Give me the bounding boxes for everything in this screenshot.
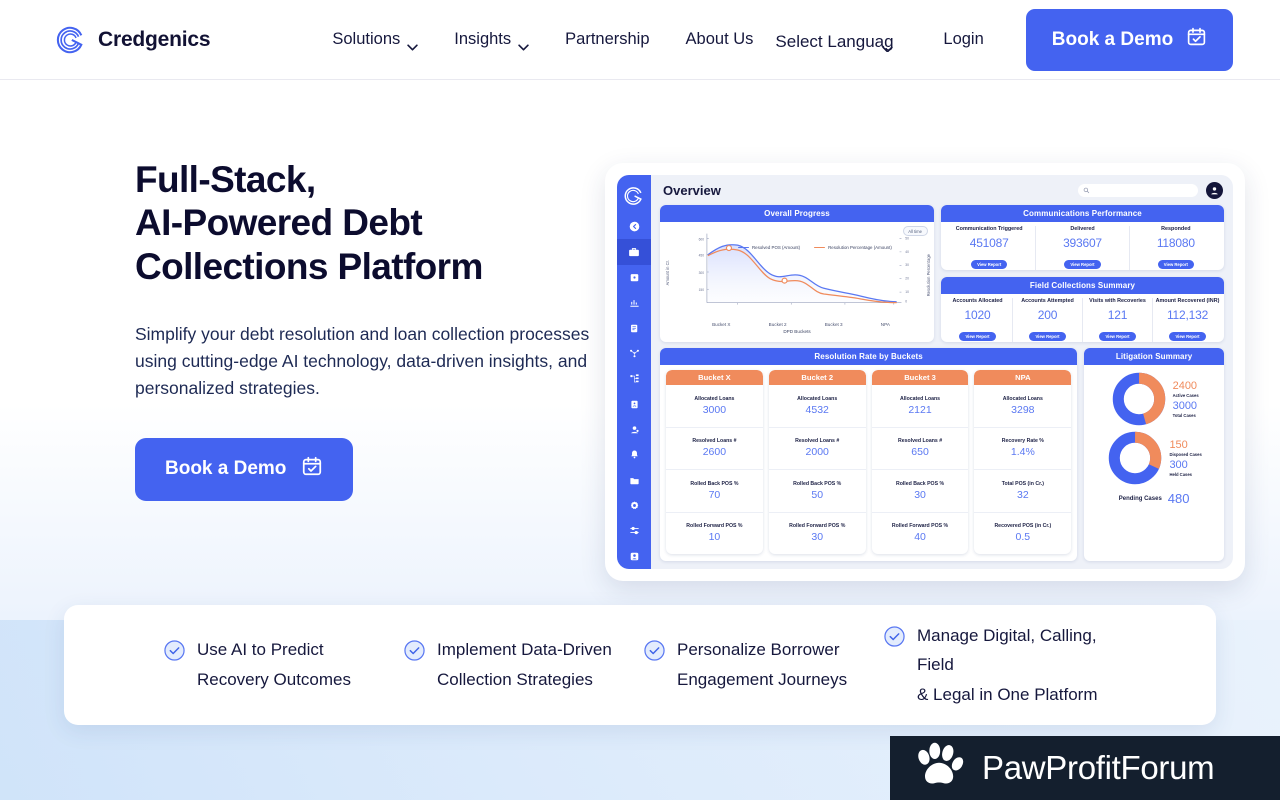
nav-item-solutions[interactable]: Solutions xyxy=(332,30,436,49)
chart-y-axis-label: Amount in Cr. xyxy=(665,260,670,285)
stat-cell: Amount Recovered (INR) 112,132 View Repo… xyxy=(1153,298,1222,342)
feature-item: Manage Digital, Calling, Field & Legal i… xyxy=(884,621,1124,710)
svg-text:0: 0 xyxy=(905,300,907,304)
feature-item: Implement Data-Driven Collection Strateg… xyxy=(404,635,644,694)
litigation-summary-card: Litigation Summary 2400 Active Cases xyxy=(1084,348,1224,561)
chart-x-tick: NPA xyxy=(881,322,890,327)
dashboard-search-input[interactable] xyxy=(1078,184,1198,197)
donut-secondary-value: 300 xyxy=(1169,460,1201,471)
communications-performance-card: Communications Performance Communication… xyxy=(941,205,1224,270)
chevron-down-icon xyxy=(407,37,418,44)
bucket-cell: Rolled Back POS % 70 xyxy=(666,470,763,512)
hero-subtitle: Simplify your debt resolution and loan c… xyxy=(135,321,595,403)
svg-text:300: 300 xyxy=(699,271,705,275)
bucket-row-label: Total POS (in Cr.) xyxy=(976,481,1069,487)
sidebar-agent-icon[interactable] xyxy=(617,417,651,442)
bucket-cell: Total POS (in Cr.) 32 xyxy=(974,470,1071,512)
resolution-rate-title: Resolution Rate by Buckets xyxy=(660,348,1077,365)
svg-text:40: 40 xyxy=(905,250,909,254)
bucket-row-value: 3000 xyxy=(668,404,761,416)
bucket-row-value: 1.4% xyxy=(976,446,1069,458)
sidebar-gear-icon[interactable] xyxy=(617,493,651,518)
hero-copy: Full-Stack, AI-Powered Debt Collections … xyxy=(135,158,605,501)
calendar-check-icon xyxy=(301,455,323,483)
pending-cases: Pending Cases 480 xyxy=(1119,491,1190,506)
litigation-donut-2: 150 Disposed Cases 300 Held Cases xyxy=(1106,429,1201,487)
overall-progress-title: Overall Progress xyxy=(660,205,934,222)
stat-cell: Accounts Attempted 200 View Report xyxy=(1013,298,1083,342)
bucket-row-label: Resolved Loans # xyxy=(771,438,864,444)
bucket-row-value: 0.5 xyxy=(976,531,1069,543)
language-selector-label: Select Language xyxy=(775,32,893,51)
nav-item-label: Partnership xyxy=(565,30,649,49)
bucket-row-value: 3298 xyxy=(976,404,1069,416)
litigation-donut-1: 2400 Active Cases 3000 Total Cases xyxy=(1110,370,1199,428)
stat-cell: Accounts Allocated 1020 View Report xyxy=(943,298,1013,342)
donut-secondary-value: 3000 xyxy=(1173,401,1199,412)
bucket-row-label: Allocated Loans xyxy=(976,396,1069,402)
stat-value: 393607 xyxy=(1038,236,1126,250)
main-nav: Solutions Insights Partnership About Us … xyxy=(332,9,1233,71)
bucket-cell: Resolved Loans # 2000 xyxy=(769,428,866,470)
field-collections-title: Field Collections Summary xyxy=(941,277,1224,294)
view-report-button[interactable]: View Report xyxy=(1064,260,1100,269)
donut-primary-label: Active Cases xyxy=(1173,393,1199,398)
bucket-row-label: Allocated Loans xyxy=(771,396,864,402)
feature-label: Implement Data-Driven Collection Strateg… xyxy=(437,635,612,694)
dashboard-sidebar xyxy=(617,175,651,569)
bucket-cell: Resolved Loans # 650 xyxy=(872,428,969,470)
chevron-down-icon xyxy=(518,37,529,44)
donut-primary-value: 2400 xyxy=(1173,381,1199,392)
feature-item: Use AI to Predict Recovery Outcomes xyxy=(164,635,404,694)
sidebar-lock-icon[interactable] xyxy=(617,265,651,290)
watermark: PawProfitForum xyxy=(890,736,1280,800)
svg-text:450: 450 xyxy=(699,254,705,258)
bucket-row-label: Allocated Loans xyxy=(668,396,761,402)
stat-label: Accounts Attempted xyxy=(1015,298,1080,305)
bucket-cell: Recovery Rate % 1.4% xyxy=(974,428,1071,470)
hero-title-line-1: Full-Stack, xyxy=(135,158,605,201)
brand[interactable]: Credgenics xyxy=(56,25,210,55)
chart-y2-axis-label: Resolution Percentage xyxy=(926,254,931,296)
bucket-row-label: Rolled Forward POS % xyxy=(874,523,967,529)
view-report-button[interactable]: View Report xyxy=(1029,332,1065,341)
stat-label: Visits with Recoveries xyxy=(1085,298,1150,305)
pending-cases-label: Pending Cases xyxy=(1119,496,1162,502)
book-a-demo-label: Book a Demo xyxy=(1052,29,1173,51)
bucket-column: NPA Allocated Loans 3298 Recovery Rate %… xyxy=(974,370,1071,554)
overall-progress-card: Overall Progress All time Resolved POS (… xyxy=(660,205,934,342)
sidebar-briefcase-icon[interactable] xyxy=(617,239,651,264)
stat-value: 200 xyxy=(1015,308,1080,322)
bucket-cell: Rolled Forward POS % 40 xyxy=(872,513,969,554)
view-report-button[interactable]: View Report xyxy=(971,260,1007,269)
bucket-cell: Rolled Forward POS % 10 xyxy=(666,513,763,554)
bucket-row-value: 32 xyxy=(976,489,1069,501)
dashboard-topbar: Overview xyxy=(651,175,1233,205)
page-title: Full-Stack, AI-Powered Debt Collections … xyxy=(135,158,605,288)
feature-line-2: Collection Strategies xyxy=(437,670,593,689)
feature-line-1: Implement Data-Driven xyxy=(437,640,612,659)
pending-cases-value: 480 xyxy=(1168,491,1190,506)
feature-line-1: Manage Digital, Calling, Field xyxy=(917,626,1097,675)
view-report-button[interactable]: View Report xyxy=(1169,332,1205,341)
check-circle-icon xyxy=(404,640,425,661)
resolution-rate-card: Resolution Rate by Buckets Bucket X Allo… xyxy=(660,348,1077,561)
feature-label: Use AI to Predict Recovery Outcomes xyxy=(197,635,351,694)
login-link[interactable]: Login xyxy=(943,30,983,49)
bucket-column: Bucket 3 Allocated Loans 2121 Resolved L… xyxy=(872,370,969,554)
feature-line-2: Recovery Outcomes xyxy=(197,670,351,689)
check-circle-icon xyxy=(164,640,185,661)
stat-cell: Communication Triggered 451087 View Repo… xyxy=(943,226,1036,270)
overall-progress-chart: All time Resolved POS (Amount) Resolutio… xyxy=(660,222,934,342)
bucket-column: Bucket 2 Allocated Loans 4532 Resolved L… xyxy=(769,370,866,554)
view-report-button[interactable]: View Report xyxy=(1099,332,1135,341)
dashboard-preview: Overview Overall Progress All time xyxy=(605,163,1245,581)
stat-cell: Responded 118080 View Report xyxy=(1130,226,1222,270)
donut-primary-value: 150 xyxy=(1169,440,1201,451)
view-report-button[interactable]: View Report xyxy=(959,332,995,341)
stat-cell: Delivered 393607 View Report xyxy=(1036,226,1129,270)
watermark-text: PawProfitForum xyxy=(982,749,1214,787)
legend-item: Resolved POS (Amount) xyxy=(738,245,800,250)
feature-line-1: Personalize Borrower xyxy=(677,640,840,659)
bucket-name: Bucket 2 xyxy=(769,370,866,385)
bucket-cell: Rolled Back POS % 50 xyxy=(769,470,866,512)
calendar-check-icon xyxy=(1186,26,1207,53)
bucket-row-value: 50 xyxy=(771,489,864,501)
bucket-row-value: 2000 xyxy=(771,446,864,458)
chevron-down-icon xyxy=(882,38,893,45)
bucket-row-label: Rolled Forward POS % xyxy=(771,523,864,529)
stat-cell: Visits with Recoveries 121 View Report xyxy=(1083,298,1153,342)
bucket-cell: Allocated Loans 3298 xyxy=(974,385,1071,427)
view-report-button[interactable]: View Report xyxy=(1158,260,1194,269)
feature-item: Personalize Borrower Engagement Journeys xyxy=(644,635,884,694)
bucket-row-label: Recovery Rate % xyxy=(976,438,1069,444)
bucket-row-value: 650 xyxy=(874,446,967,458)
chart-x-tick: Bucket 3 xyxy=(825,322,843,327)
nav-item-insights[interactable]: Insights xyxy=(436,30,547,49)
bucket-row-value: 30 xyxy=(874,489,967,501)
hero-book-a-demo-label: Book a Demo xyxy=(165,458,286,480)
bucket-row-label: Resolved Loans # xyxy=(668,438,761,444)
stat-value: 1020 xyxy=(945,308,1010,322)
stat-value: 121 xyxy=(1085,308,1150,322)
bucket-row-label: Rolled Back POS % xyxy=(668,481,761,487)
svg-text:20: 20 xyxy=(905,277,909,281)
stat-value: 118080 xyxy=(1132,236,1220,250)
sidebar-person-icon[interactable] xyxy=(617,544,651,569)
bucket-row-label: Recovered POS (in Cr.) xyxy=(976,523,1069,529)
sidebar-folder-icon[interactable] xyxy=(617,468,651,493)
donut-primary-label: Disposed Cases xyxy=(1169,452,1201,457)
donut-chart-icon xyxy=(1106,429,1164,487)
bucket-cell: Rolled Forward POS % 30 xyxy=(769,513,866,554)
feature-label: Manage Digital, Calling, Field & Legal i… xyxy=(917,621,1108,710)
stat-value: 112,132 xyxy=(1155,308,1220,322)
donut-secondary-label: Total Cases xyxy=(1173,413,1199,418)
bucket-row-value: 40 xyxy=(874,531,967,543)
dashboard-title: Overview xyxy=(663,183,721,198)
hero-title-line-2: AI-Powered Debt xyxy=(135,201,605,244)
sidebar-bell-icon[interactable] xyxy=(617,442,651,467)
bucket-cell: Rolled Back POS % 30 xyxy=(872,470,969,512)
svg-text:30: 30 xyxy=(905,263,909,267)
legend-item: Resolution Percentage (Amount) xyxy=(814,245,892,250)
donut-chart-icon xyxy=(1110,370,1168,428)
stat-label: Delivered xyxy=(1038,226,1126,233)
sidebar-share-nodes-icon[interactable] xyxy=(617,341,651,366)
bucket-row-value: 4532 xyxy=(771,404,864,416)
bucket-column: Bucket X Allocated Loans 3000 Resolved L… xyxy=(666,370,763,554)
nav-item-label: Insights xyxy=(454,30,511,49)
chart-filter-all-time[interactable]: All time xyxy=(903,226,928,236)
bucket-cell: Allocated Loans 3000 xyxy=(666,385,763,427)
bucket-row-label: Resolved Loans # xyxy=(874,438,967,444)
bucket-name: NPA xyxy=(974,370,1071,385)
language-selector[interactable]: Select Language xyxy=(775,27,893,52)
bucket-row-label: Rolled Back POS % xyxy=(874,481,967,487)
bucket-cell: Recovered POS (in Cr.) 0.5 xyxy=(974,513,1071,554)
bucket-name: Bucket X xyxy=(666,370,763,385)
feature-line-1: Use AI to Predict xyxy=(197,640,324,659)
communications-title: Communications Performance xyxy=(941,205,1224,222)
svg-text:50: 50 xyxy=(905,236,909,240)
stat-label: Accounts Allocated xyxy=(945,298,1010,305)
chart-plot: 600450 300150 5040 3020 100 xyxy=(663,226,931,318)
legend-label: Resolution Percentage (Amount) xyxy=(828,245,892,250)
paw-print-icon xyxy=(912,742,964,795)
check-circle-icon xyxy=(644,640,665,661)
bucket-row-value: 10 xyxy=(668,531,761,543)
feature-line-2: Engagement Journeys xyxy=(677,670,847,689)
check-circle-icon xyxy=(884,626,905,647)
credgenics-logo-icon xyxy=(624,186,644,206)
litigation-title: Litigation Summary xyxy=(1084,348,1224,365)
sidebar-back-arrow-icon[interactable] xyxy=(617,214,651,239)
bucket-row-value: 2121 xyxy=(874,404,967,416)
stat-label: Communication Triggered xyxy=(945,226,1033,233)
bucket-row-label: Allocated Loans xyxy=(874,396,967,402)
bucket-row-value: 30 xyxy=(771,531,864,543)
avatar[interactable] xyxy=(1206,182,1223,199)
chart-x-tick: Bucket 2 xyxy=(769,322,787,327)
bucket-row-value: 70 xyxy=(668,489,761,501)
sidebar-hierarchy-icon[interactable] xyxy=(617,366,651,391)
hero-title-line-3: Collections Platform xyxy=(135,245,605,288)
feature-label: Personalize Borrower Engagement Journeys xyxy=(677,635,847,694)
chart-x-axis-label: DPD Buckets xyxy=(663,329,931,334)
bucket-row-value: 2600 xyxy=(668,446,761,458)
credgenics-logo-icon xyxy=(56,25,86,55)
svg-text:150: 150 xyxy=(699,288,705,292)
feature-line-2: & Legal in One Platform xyxy=(917,685,1097,704)
stat-label: Amount Recovered (INR) xyxy=(1155,298,1220,305)
search-icon xyxy=(1083,187,1090,194)
svg-text:600: 600 xyxy=(699,237,705,241)
hero-book-a-demo-button[interactable]: Book a Demo xyxy=(135,438,353,501)
bucket-row-label: Rolled Back POS % xyxy=(771,481,864,487)
book-a-demo-button[interactable]: Book a Demo xyxy=(1026,9,1233,71)
bucket-cell: Allocated Loans 2121 xyxy=(872,385,969,427)
bucket-row-label: Rolled Forward POS % xyxy=(668,523,761,529)
sidebar-file-icon[interactable] xyxy=(617,392,651,417)
stat-value: 451087 xyxy=(945,236,1033,250)
bucket-cell: Allocated Loans 4532 xyxy=(769,385,866,427)
sidebar-documents-icon[interactable] xyxy=(617,315,651,340)
nav-item-partnership[interactable]: Partnership xyxy=(547,30,667,49)
nav-item-label: Solutions xyxy=(332,30,400,49)
field-collections-card: Field Collections Summary Accounts Alloc… xyxy=(941,277,1224,342)
legend-label: Resolved POS (Amount) xyxy=(752,245,800,250)
features-bar: Use AI to Predict Recovery Outcomes Impl… xyxy=(64,605,1216,725)
sidebar-sliders-icon[interactable] xyxy=(617,518,651,543)
chart-x-tick: Bucket X xyxy=(712,322,730,327)
sidebar-analytics-icon[interactable] xyxy=(617,290,651,315)
bucket-cell: Resolved Loans # 2600 xyxy=(666,428,763,470)
bucket-name: Bucket 3 xyxy=(872,370,969,385)
stat-label: Responded xyxy=(1132,226,1220,233)
nav-item-about-us[interactable]: About Us xyxy=(668,30,772,49)
donut-secondary-label: Held Cases xyxy=(1169,472,1201,477)
site-header: Credgenics Solutions Insights Partnershi… xyxy=(0,0,1280,80)
nav-item-label: About Us xyxy=(686,30,754,49)
chart-legend: Resolved POS (Amount) Resolution Percent… xyxy=(738,245,892,250)
svg-text:10: 10 xyxy=(905,290,909,294)
brand-name: Credgenics xyxy=(98,28,210,52)
chart-x-tick-labels: Bucket X Bucket 2 Bucket 3 NPA xyxy=(663,322,931,327)
